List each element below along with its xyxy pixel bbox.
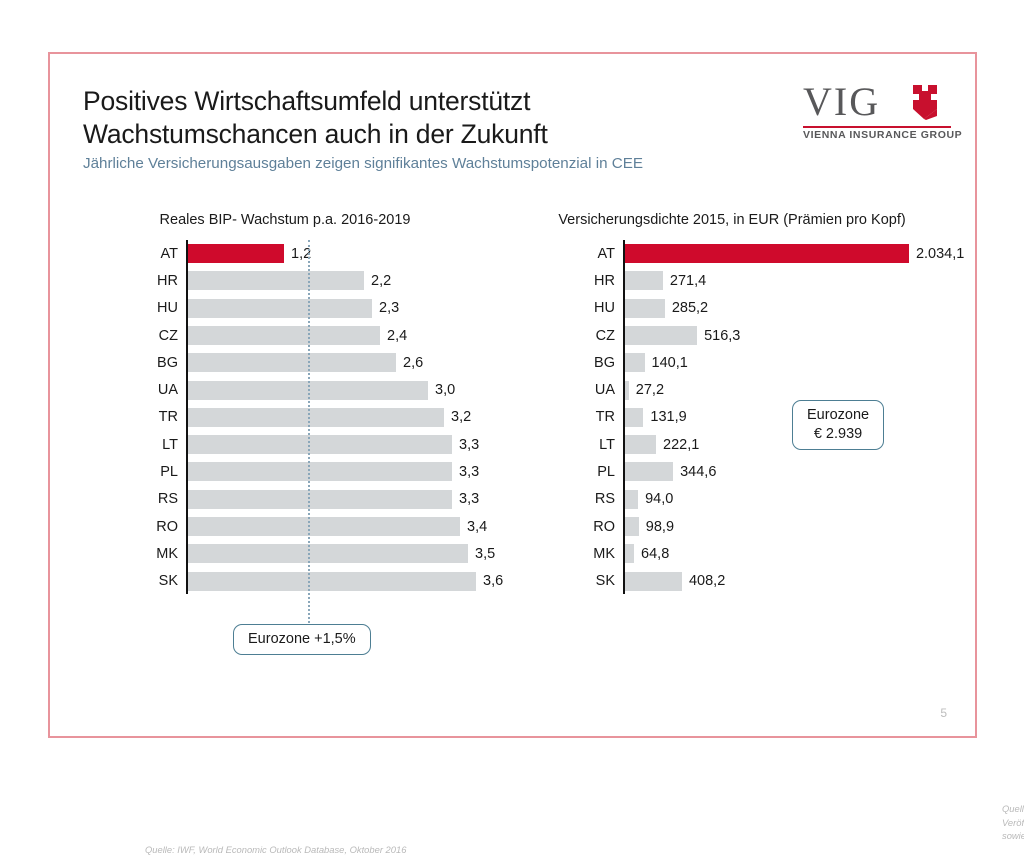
bar-row-label-lt: LT xyxy=(502,437,615,453)
bar-tr xyxy=(188,408,444,427)
bar-row-label-tr: TR xyxy=(70,409,178,425)
bar-row-label-cz: CZ xyxy=(502,328,615,344)
bar-row: LT222,1 xyxy=(502,431,962,458)
bar-value-rs: 94,0 xyxy=(645,491,673,507)
bar-row-label-hu: HU xyxy=(70,300,178,316)
chart-title-left: Reales BIP- Wachstum p.a. 2016-2019 xyxy=(70,212,500,228)
callout-right-line-2: € 2.939 xyxy=(807,425,869,444)
bar-cz xyxy=(625,326,697,345)
bar-row-label-mk: MK xyxy=(502,546,615,562)
bar-value-cz: 2,4 xyxy=(387,328,407,344)
bar-at xyxy=(188,244,284,263)
bar-cz xyxy=(188,326,380,345)
bar-value-at: 2.034,1 xyxy=(916,246,964,262)
bar-row: PL344,6 xyxy=(502,458,962,485)
bar-row-label-bg: BG xyxy=(70,355,178,371)
bar-row-label-ro: RO xyxy=(502,519,615,535)
vig-logo: VIG VIENNA INSURANCE GROUP xyxy=(797,82,957,144)
bar-row-label-sk: SK xyxy=(70,573,178,589)
bar-value-ua: 3,0 xyxy=(435,382,455,398)
bar-value-lt: 222,1 xyxy=(663,437,699,453)
bar-row: BG140,1 xyxy=(502,349,962,376)
reference-line-eurozone xyxy=(308,240,310,623)
bar-row: TR131,9 xyxy=(502,404,962,431)
source-note-right: Quelle: Versicherungsdichte - eigene Ber… xyxy=(1002,802,1024,843)
bar-row-label-lt: LT xyxy=(70,437,178,453)
callout-eurozone-growth: Eurozone +1,5% xyxy=(233,624,371,655)
bar-row-label-rs: RS xyxy=(70,491,178,507)
bar-value-ro: 3,4 xyxy=(467,519,487,535)
bar-bg xyxy=(625,353,645,372)
bar-row: RS94,0 xyxy=(502,486,962,513)
chart-title-right: Versicherungsdichte 2015, in EUR (Prämie… xyxy=(502,212,962,228)
bar-value-tr: 3,2 xyxy=(451,409,471,425)
bar-row-label-ua: UA xyxy=(502,382,615,398)
bar-value-hu: 285,2 xyxy=(672,300,708,316)
bar-at xyxy=(625,244,909,263)
bar-row: HU285,2 xyxy=(502,295,962,322)
bar-row: RO3,4 xyxy=(70,513,500,540)
bar-value-ua: 27,2 xyxy=(636,382,664,398)
callout-eurozone-density: Eurozone € 2.939 xyxy=(792,400,884,450)
bar-row: RO98,9 xyxy=(502,513,962,540)
bar-value-pl: 344,6 xyxy=(680,464,716,480)
bar-value-ro: 98,9 xyxy=(646,519,674,535)
callout-left-line-1: Eurozone +1,5% xyxy=(248,631,356,647)
bar-rs xyxy=(188,490,452,509)
bar-value-mk: 64,8 xyxy=(641,546,669,562)
bar-value-bg: 2,6 xyxy=(403,355,423,371)
bar-row: LT3,3 xyxy=(70,431,500,458)
bar-row: HR271,4 xyxy=(502,267,962,294)
bar-value-tr: 131,9 xyxy=(650,409,686,425)
bar-rs xyxy=(625,490,638,509)
bar-row-label-mk: MK xyxy=(70,546,178,562)
bar-row-label-ua: UA xyxy=(70,382,178,398)
bar-ro xyxy=(625,517,639,536)
bar-row: PL3,3 xyxy=(70,458,500,485)
bar-row: MK3,5 xyxy=(70,540,500,567)
bar-row-label-at: AT xyxy=(70,246,178,262)
bar-row-label-at: AT xyxy=(502,246,615,262)
bar-lt xyxy=(625,435,656,454)
page-number: 5 xyxy=(940,706,947,720)
logo-wordmark: VIG xyxy=(803,82,880,122)
bar-lt xyxy=(188,435,452,454)
bar-row: CZ516,3 xyxy=(502,322,962,349)
bar-row: RS3,3 xyxy=(70,486,500,513)
bar-row: UA27,2 xyxy=(502,377,962,404)
bar-row: SK408,2 xyxy=(502,568,962,595)
bar-value-sk: 408,2 xyxy=(689,573,725,589)
bar-row-label-ro: RO xyxy=(70,519,178,535)
bar-value-hu: 2,3 xyxy=(379,300,399,316)
bar-ua xyxy=(625,381,629,400)
page-title-line-2: Wachstumschancen auch in der Zukunft xyxy=(83,119,548,150)
bar-value-bg: 140,1 xyxy=(652,355,688,371)
shield-icon xyxy=(907,84,941,120)
bar-value-lt: 3,3 xyxy=(459,437,479,453)
bar-row: TR3,2 xyxy=(70,404,500,431)
bar-value-hr: 2,2 xyxy=(371,273,391,289)
bar-hr xyxy=(625,271,663,290)
bar-value-mk: 3,5 xyxy=(475,546,495,562)
bar-row-label-hr: HR xyxy=(70,273,178,289)
logo-tagline: VIENNA INSURANCE GROUP xyxy=(803,129,962,141)
bar-row: UA3,0 xyxy=(70,377,500,404)
callout-right-line-1: Eurozone xyxy=(807,406,869,425)
bar-hu xyxy=(625,299,665,318)
bar-mk xyxy=(625,544,634,563)
bar-pl xyxy=(188,462,452,481)
bar-row-label-pl: PL xyxy=(70,464,178,480)
bar-row-label-hu: HU xyxy=(502,300,615,316)
bar-row: AT1,2 xyxy=(70,240,500,267)
bar-row-label-rs: RS xyxy=(502,491,615,507)
bar-row: CZ2,4 xyxy=(70,322,500,349)
bar-row-label-bg: BG xyxy=(502,355,615,371)
page-subtitle: Jährliche Versicherungsausgaben zeigen s… xyxy=(83,155,643,172)
bar-row-label-sk: SK xyxy=(502,573,615,589)
page-title-line-1: Positives Wirtschaftsumfeld unterstützt xyxy=(83,86,530,117)
bar-row-label-pl: PL xyxy=(502,464,615,480)
bar-value-cz: 516,3 xyxy=(704,328,740,344)
bar-tr xyxy=(625,408,643,427)
bar-row-label-cz: CZ xyxy=(70,328,178,344)
bar-pl xyxy=(625,462,673,481)
bar-row-label-hr: HR xyxy=(502,273,615,289)
bar-row: HU2,3 xyxy=(70,295,500,322)
bar-value-pl: 3,3 xyxy=(459,464,479,480)
bar-row: BG2,6 xyxy=(70,349,500,376)
bar-row-label-tr: TR xyxy=(502,409,615,425)
bar-value-hr: 271,4 xyxy=(670,273,706,289)
bar-row: AT2.034,1 xyxy=(502,240,962,267)
bar-sk xyxy=(625,572,682,591)
bar-hu xyxy=(188,299,372,318)
bar-ro xyxy=(188,517,460,536)
bar-bg xyxy=(188,353,396,372)
slide-frame: Positives Wirtschaftsumfeld unterstützt … xyxy=(48,52,977,738)
bar-mk xyxy=(188,544,468,563)
source-note-left: Quelle: IWF, World Economic Outlook Data… xyxy=(145,843,406,857)
bar-hr xyxy=(188,271,364,290)
bar-value-sk: 3,6 xyxy=(483,573,503,589)
bar-row: HR2,2 xyxy=(70,267,500,294)
bar-sk xyxy=(188,572,476,591)
bar-value-rs: 3,3 xyxy=(459,491,479,507)
bar-row: SK3,6 xyxy=(70,568,500,595)
bar-row: MK64,8 xyxy=(502,540,962,567)
logo-divider xyxy=(803,126,951,128)
